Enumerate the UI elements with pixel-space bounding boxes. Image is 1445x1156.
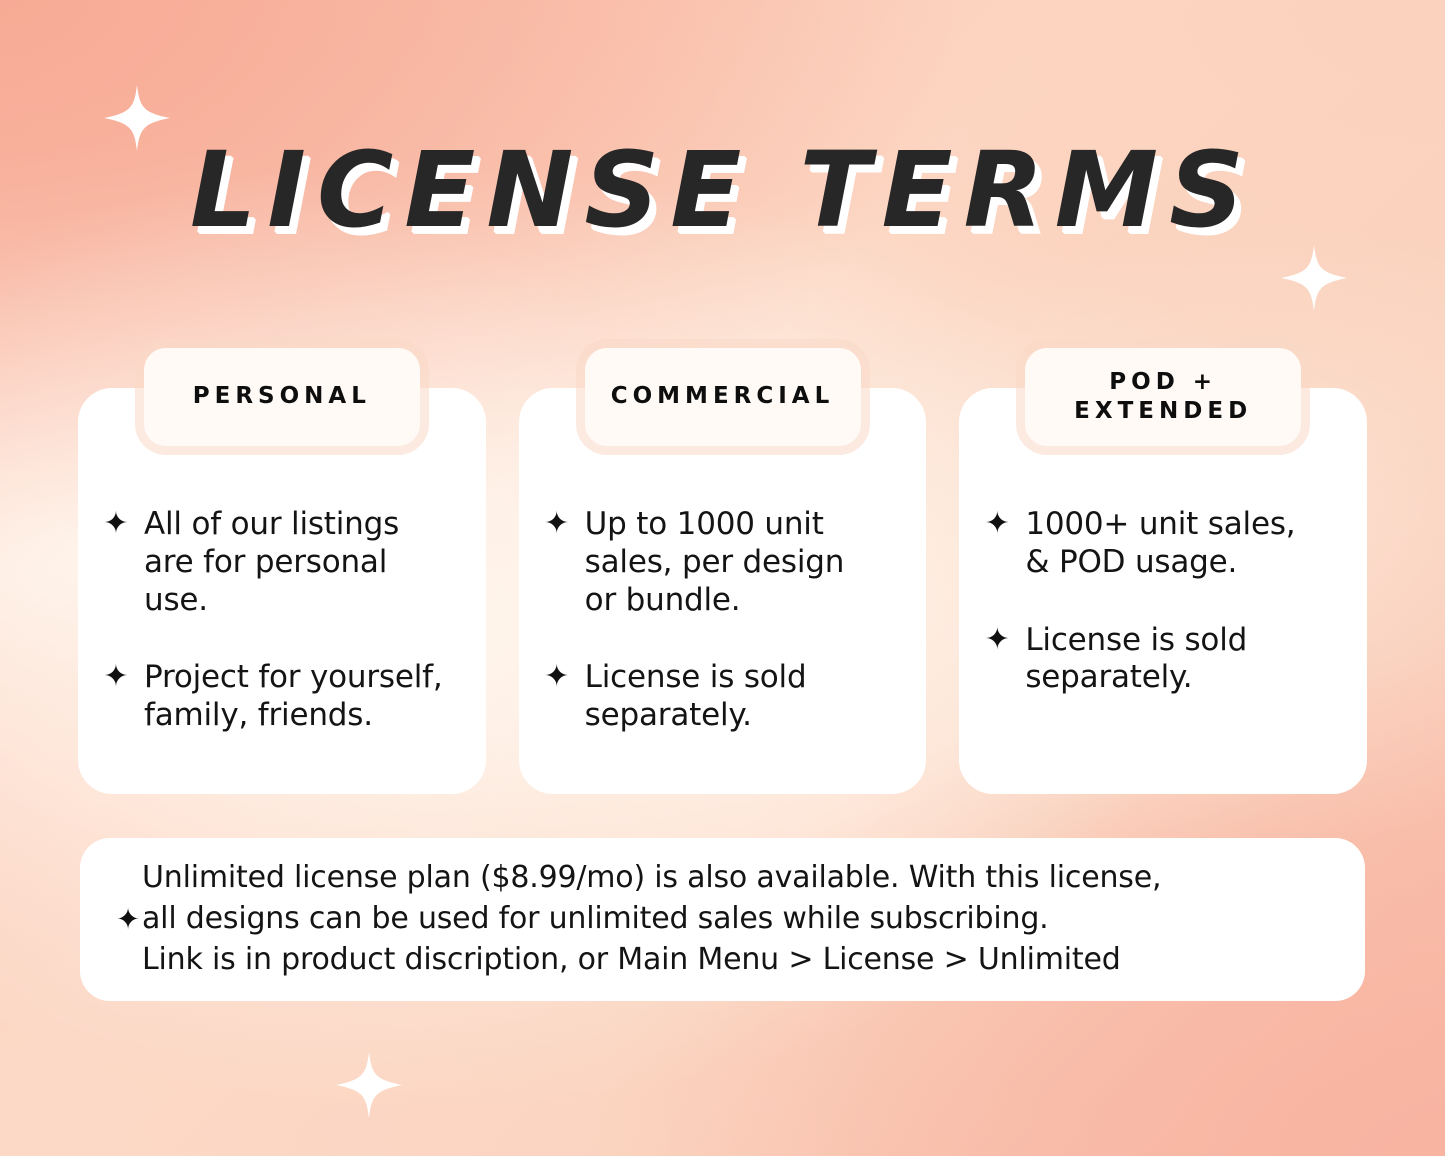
unlimited-plan-text: Unlimited license plan ($8.99/mo) is als… [142,858,1161,980]
bullet-list-commercial: ✦ Up to 1000 unit sales, per design or b… [543,506,905,735]
list-item: ✦ 1000+ unit sales, & POD usage. [983,506,1345,582]
list-item-text: Project for yourself, family, friends. [144,659,443,735]
sparkle-bullet-icon: ✦ [543,506,571,543]
card-body-personal: ✦ All of our listings are for personal u… [78,388,486,794]
license-card-personal: PERSONAL ✦ All of our listings are for p… [78,348,486,794]
list-item: ✦ Project for yourself, family, friends. [102,659,464,735]
title-area: LICENSE TERMS [0,138,1445,242]
card-header-label: POD + EXTENDED [1074,368,1252,427]
card-header-label: PERSONAL [193,382,371,411]
bullet-list-pod-extended: ✦ 1000+ unit sales, & POD usage. ✦ Licen… [983,506,1345,697]
license-card-pod-extended: POD + EXTENDED ✦ 1000+ unit sales, & POD… [959,348,1367,794]
list-item: ✦ All of our listings are for personal u… [102,506,464,619]
card-header-pill-personal: PERSONAL [144,348,420,446]
list-item-text: 1000+ unit sales, & POD usage. [1025,506,1295,582]
list-item: ✦ Up to 1000 unit sales, per design or b… [543,506,905,619]
list-item: ✦ License is sold separately. [983,622,1345,698]
list-item-text: Up to 1000 unit sales, per design or bun… [585,506,844,619]
card-body-pod-extended: ✦ 1000+ unit sales, & POD usage. ✦ Licen… [959,388,1367,794]
page-title: LICENSE TERMS [190,138,1255,242]
sparkle-bullet-icon: ✦ [983,506,1011,543]
list-item-text: All of our listings are for personal use… [144,506,399,619]
card-header-pill-pod-extended: POD + EXTENDED [1025,348,1301,446]
license-cards-row: PERSONAL ✦ All of our listings are for p… [78,348,1367,794]
sparkle-bullet-icon: ✦ [114,900,142,938]
card-header-pill-commercial: COMMERCIAL [585,348,861,446]
card-body-commercial: ✦ Up to 1000 unit sales, per design or b… [519,388,927,794]
sparkle-bullet-icon: ✦ [102,506,130,543]
unlimited-plan-banner: ✦ Unlimited license plan ($8.99/mo) is a… [80,838,1365,1001]
license-card-commercial: COMMERCIAL ✦ Up to 1000 unit sales, per … [519,348,927,794]
list-item-text: License is sold separately. [1025,622,1247,698]
list-item-text: License is sold separately. [585,659,807,735]
sparkle-bullet-icon: ✦ [983,622,1011,659]
sparkle-bottom-left-icon [336,1052,402,1118]
sparkle-bullet-icon: ✦ [102,659,130,696]
sparkle-bullet-icon: ✦ [543,659,571,696]
sparkle-title-right-icon [1281,245,1347,311]
bullet-list-personal: ✦ All of our listings are for personal u… [102,506,464,735]
card-header-label: COMMERCIAL [611,382,835,411]
list-item: ✦ License is sold separately. [543,659,905,735]
